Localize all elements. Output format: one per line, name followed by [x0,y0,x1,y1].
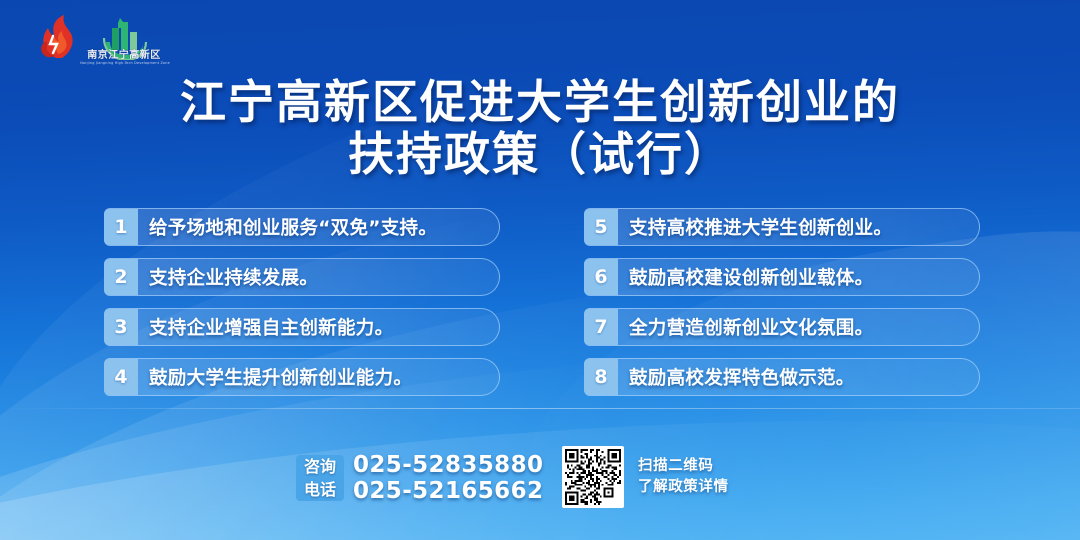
qr-block: 扫描二维码 了解政策详情 [562,446,729,508]
contact-label-line-2: 电话 [296,478,344,501]
policy-number-badge: 3 [104,309,138,345]
qr-code-svg [565,449,621,505]
logo-name-en: Nanjing Jiangning High-Tech Development … [80,61,167,66]
policy-number-badge: 1 [104,209,138,245]
title-line-2: 扶持政策（试行） [0,128,1080,180]
policy-text: 鼓励大学生提升创新创业能力。 [138,364,412,390]
policy-number-badge: 8 [584,359,618,395]
policy-text: 给予场地和创业服务“双免”支持。 [138,214,437,240]
policy-row: 2 支持企业持续发展。 6 鼓励高校建设创新创业载体。 [104,258,980,296]
policy-item-4[interactable]: 4 鼓励大学生提升创新创业能力。 [104,358,500,396]
qr-code-icon[interactable] [562,446,624,508]
policy-number-badge: 4 [104,359,138,395]
policy-text: 支持企业增强自主创新能力。 [138,314,393,340]
title-line-1: 江宁高新区促进大学生创新创业的 [0,76,1080,128]
policy-text: 鼓励高校发挥特色做示范。 [618,364,855,390]
policy-item-1[interactable]: 1 给予场地和创业服务“双免”支持。 [104,208,500,246]
policy-item-6[interactable]: 6 鼓励高校建设创新创业载体。 [584,258,980,296]
policy-item-5[interactable]: 5 支持高校推进大学生创新创业。 [584,208,980,246]
logo-caption: 南京江宁高新区 Nanjing Jiangning High-Tech Deve… [78,50,170,66]
policy-row: 1 给予场地和创业服务“双免”支持。 5 支持高校推进大学生创新创业。 [104,208,980,246]
policy-item-7[interactable]: 7 全力营造创新创业文化氛围。 [584,308,980,346]
policy-text: 鼓励高校建设创新创业载体。 [618,264,873,290]
organization-logo: 南京江宁高新区 Nanjing Jiangning High-Tech Deve… [26,14,166,76]
qr-caption-line-1: 扫描二维码 [638,456,729,477]
policy-number-badge: 6 [584,259,618,295]
policy-row: 3 支持企业增强自主创新能力。 7 全力营造创新创业文化氛围。 [104,308,980,346]
policy-item-2[interactable]: 2 支持企业持续发展。 [104,258,500,296]
background-hairline [0,408,1080,409]
policy-item-8[interactable]: 8 鼓励高校发挥特色做示范。 [584,358,980,396]
page-title: 江宁高新区促进大学生创新创业的 扶持政策（试行） [0,76,1080,180]
contact-label-badge: 咨询 电话 [296,455,344,501]
qr-caption: 扫描二维码 了解政策详情 [638,456,729,498]
policy-number-badge: 7 [584,309,618,345]
phone-numbers: 025-52835880 025-52165662 [353,452,543,504]
logo-name-cn: 南京江宁高新区 [78,50,170,61]
policy-row: 4 鼓励大学生提升创新创业能力。 8 鼓励高校发挥特色做示范。 [104,358,980,396]
contact-block: 咨询 电话 025-52835880 025-52165662 [296,452,543,504]
phone-number-1[interactable]: 025-52835880 [353,452,543,478]
policy-text: 全力营造创新创业文化氛围。 [618,314,873,340]
policy-list: 1 给予场地和创业服务“双免”支持。 5 支持高校推进大学生创新创业。 2 支持… [104,208,980,396]
policy-poster: 南京江宁高新区 Nanjing Jiangning High-Tech Deve… [0,0,1080,540]
policy-text: 支持高校推进大学生创新创业。 [618,214,892,240]
policy-text: 支持企业持续发展。 [138,264,318,290]
policy-number-badge: 2 [104,259,138,295]
qr-caption-line-2: 了解政策详情 [638,477,729,498]
flame-logo-icon [41,15,72,58]
phone-number-2[interactable]: 025-52165662 [353,478,543,504]
policy-number-badge: 5 [584,209,618,245]
policy-item-3[interactable]: 3 支持企业增强自主创新能力。 [104,308,500,346]
contact-label-line-1: 咨询 [296,455,344,478]
